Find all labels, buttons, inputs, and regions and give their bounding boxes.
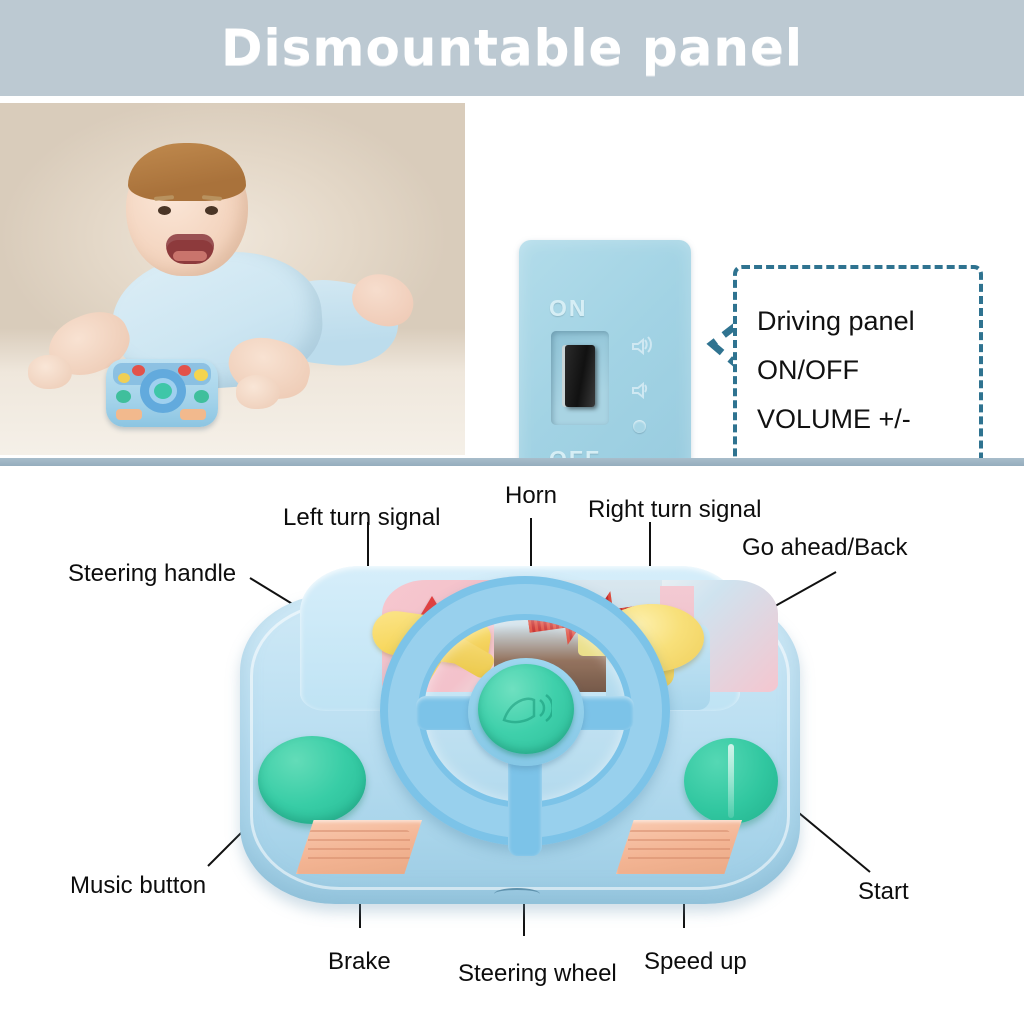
- baby-hand-left: [28, 355, 72, 389]
- toy-in-photo-horn: [154, 383, 172, 399]
- callout-line-1: Driving panel: [757, 306, 979, 337]
- music-button[interactable]: [258, 736, 366, 824]
- toy-in-photo-music-button: [116, 390, 131, 403]
- label-brake: Brake: [328, 948, 391, 976]
- callout-line-3: VOLUME +/-: [757, 404, 979, 435]
- brake-pedal-ridges: [308, 830, 410, 864]
- indicator-dot-icon: [633, 420, 646, 433]
- horn-button[interactable]: [478, 664, 574, 754]
- volume-up-icon: [627, 332, 653, 356]
- toy-in-photo-left-signal: [132, 365, 145, 376]
- baby-eye-right: [205, 206, 218, 215]
- header-band: Dismountable panel: [0, 0, 1024, 96]
- baby-with-toy-photo: [0, 103, 465, 455]
- label-steering-handle: Steering handle: [68, 560, 236, 588]
- steering-wheel-toy: R L D: [240, 566, 800, 926]
- baby-mouth: [166, 234, 214, 264]
- baby-hair: [128, 143, 246, 201]
- volume-down-icon: [627, 376, 653, 400]
- baby-eye-left: [158, 206, 171, 215]
- top-section: ON OFF: [0, 100, 1024, 458]
- label-left-turn-signal: Left turn signal: [283, 504, 440, 532]
- product-infographic: Dismountable panel: [0, 0, 1024, 1024]
- section-divider: [0, 458, 1024, 466]
- label-horn: Horn: [505, 482, 557, 510]
- driving-panel-callout: Driving panel ON/OFF VOLUME +/-: [733, 265, 983, 475]
- callout-line-2: ON/OFF: [757, 355, 979, 386]
- page-title: Dismountable panel: [221, 19, 803, 77]
- label-start: Start: [858, 878, 909, 906]
- brake-pedal[interactable]: [296, 820, 422, 874]
- label-go-ahead-back: Go ahead/Back: [742, 534, 907, 562]
- horn-icon: [500, 690, 552, 730]
- toy-in-photo-speed-up: [180, 409, 206, 420]
- steering-wheel-assembly[interactable]: [380, 576, 670, 876]
- toy-in-photo-start-knob: [194, 390, 209, 403]
- label-steering-wheel: Steering wheel: [458, 960, 617, 988]
- toy-in-photo-handle: [118, 373, 130, 383]
- speed-up-pedal[interactable]: [616, 820, 742, 874]
- toy-in-photo-right-signal: [178, 365, 191, 376]
- start-knob[interactable]: [684, 738, 778, 824]
- baby-hand-right: [236, 375, 280, 409]
- base-slot-mark: [494, 888, 540, 900]
- speed-up-pedal-ridges: [628, 830, 730, 864]
- toy-in-photo: [106, 359, 218, 427]
- switch-recess: [551, 331, 609, 425]
- switch-on-label: ON: [549, 295, 588, 322]
- label-speed-up: Speed up: [644, 948, 747, 976]
- toy-in-photo-brake: [116, 409, 142, 420]
- label-music-button: Music button: [70, 872, 206, 900]
- switch-lever[interactable]: [565, 345, 595, 407]
- labeled-diagram: R L D: [0, 466, 1024, 1024]
- label-right-turn-signal: Right turn signal: [588, 496, 761, 524]
- toy-in-photo-gear-knob: [194, 369, 208, 381]
